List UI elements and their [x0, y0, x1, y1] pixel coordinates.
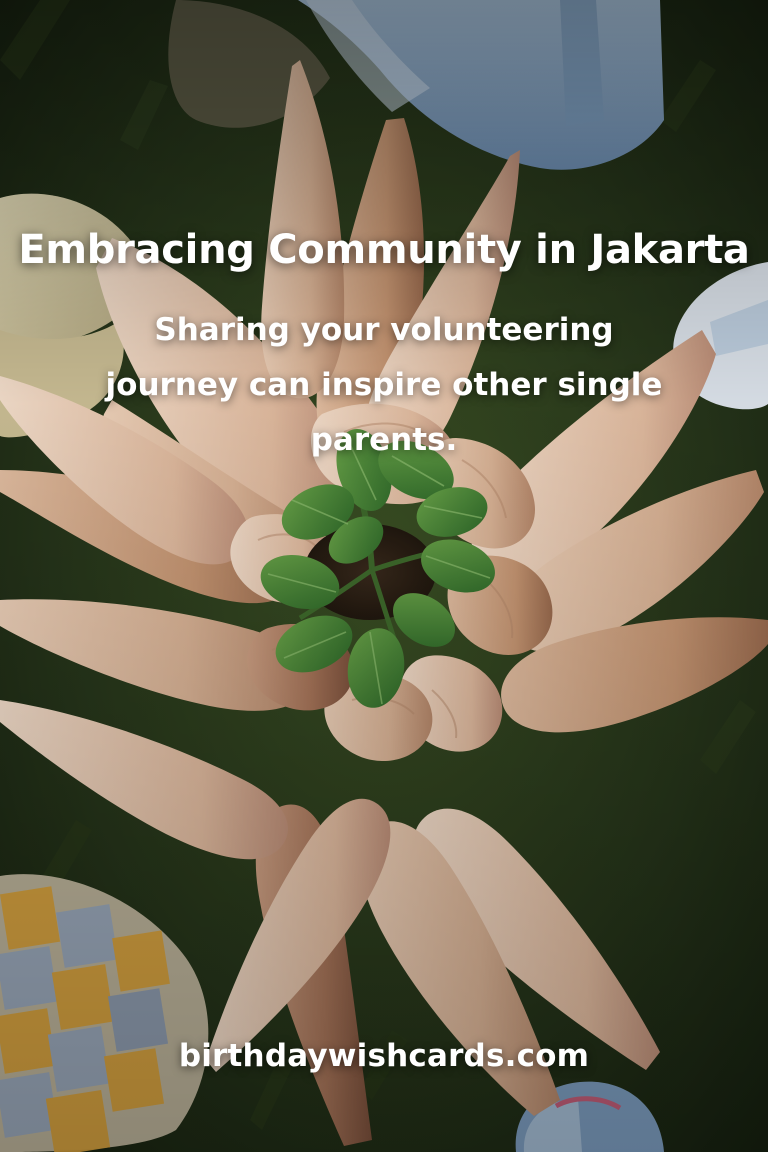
poster-card: Embracing Community in Jakarta Sharing y… [0, 0, 768, 1152]
community-hands-photo [0, 0, 768, 1152]
